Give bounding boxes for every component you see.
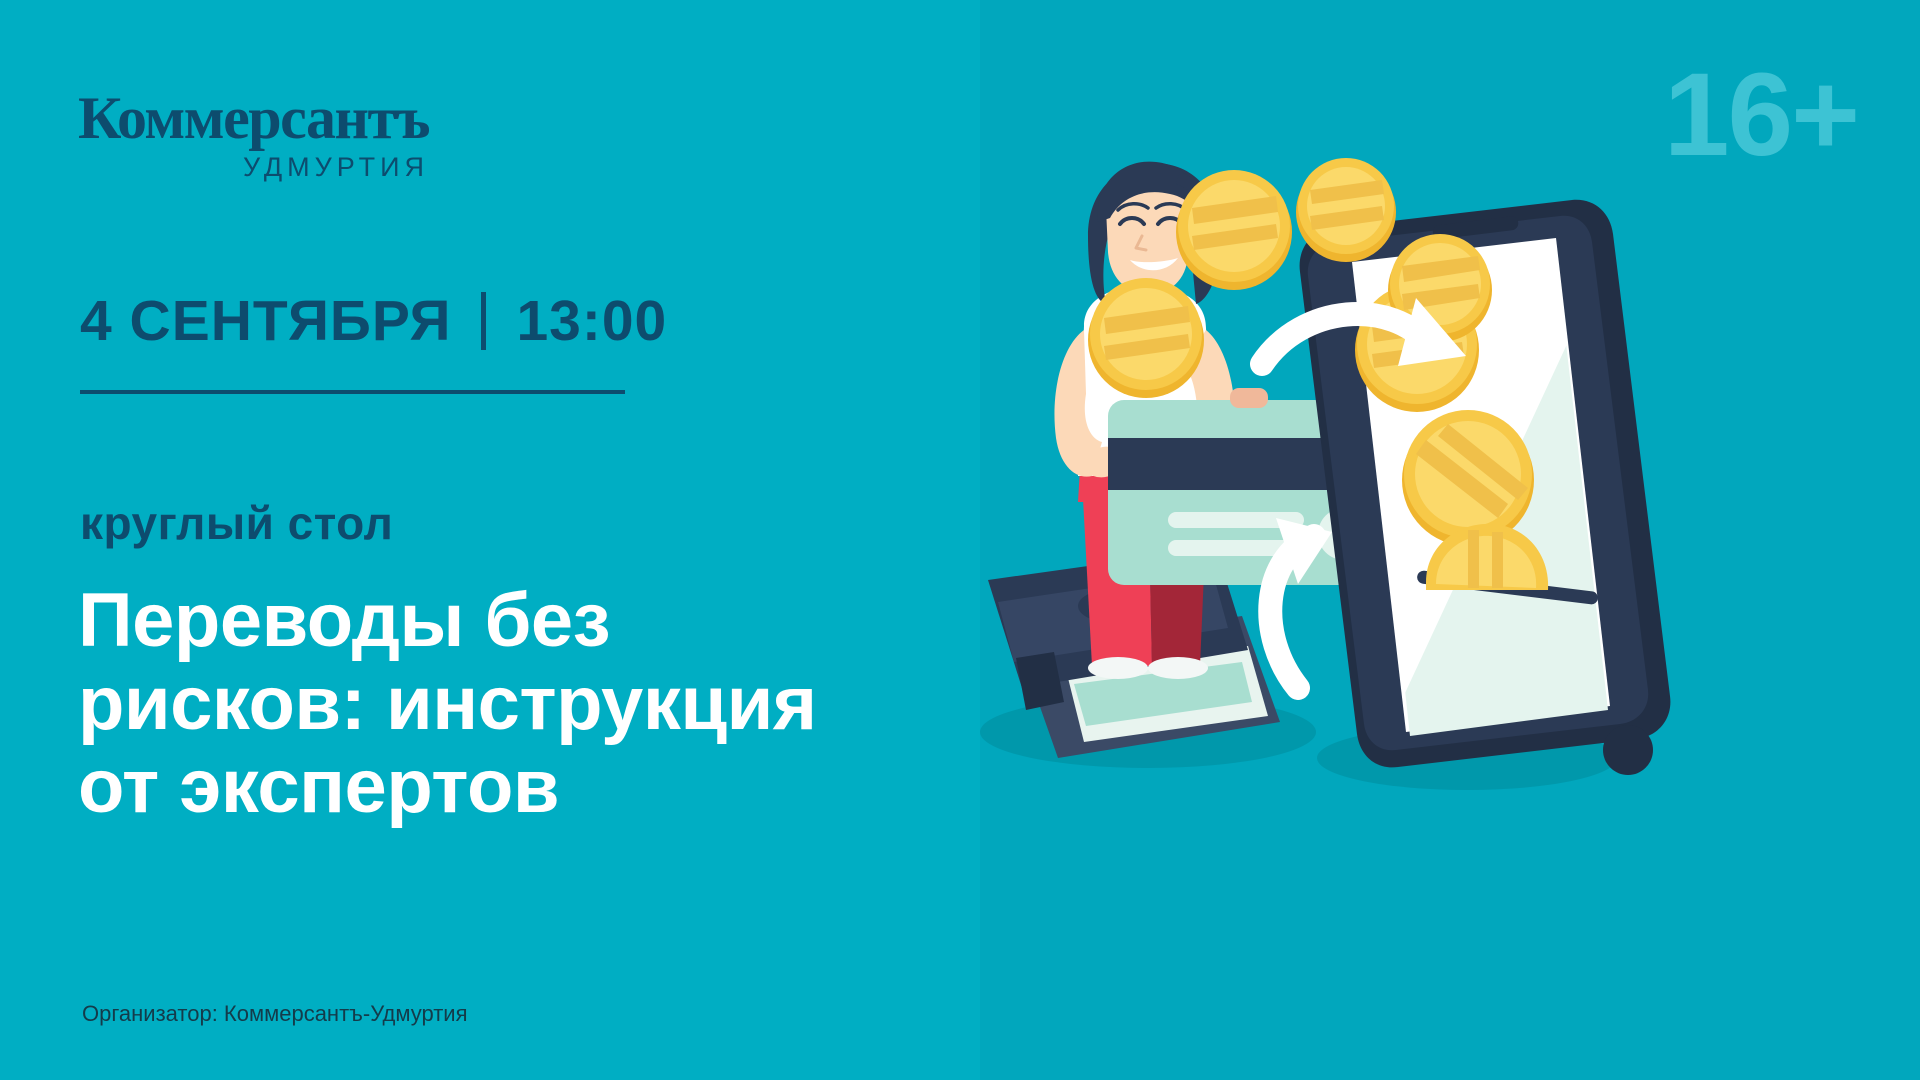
event-title-line-3: от экспертов	[78, 746, 817, 829]
brand-logo-title: Коммерсантъ	[78, 88, 429, 148]
event-title: Переводы без рисков: инструкция от экспе…	[78, 580, 817, 828]
event-kicker: круглый стол	[80, 500, 393, 546]
event-datetime: 4 СЕНТЯБРЯ 13:00	[80, 292, 667, 350]
event-date: 4 СЕНТЯБРЯ	[80, 293, 451, 350]
event-title-line-2: рисков: инструкция	[78, 663, 817, 746]
phone-home-button	[1603, 725, 1653, 775]
event-time: 13:00	[516, 293, 667, 350]
coin-screen-middle	[1402, 410, 1534, 546]
shoe-right	[1148, 657, 1208, 679]
illustration-money-transfer	[980, 150, 1920, 980]
coin-3	[1296, 158, 1396, 262]
organizer-label: Организатор: Коммерсантъ-Удмуртия	[82, 1003, 467, 1025]
coin-1	[1088, 278, 1204, 398]
brand-logo-region: УДМУРТИЯ	[78, 154, 429, 181]
divider-rule	[80, 390, 625, 394]
promo-banner: Коммерсантъ УДМУРТИЯ 16+ 4 СЕНТЯБРЯ 13:0…	[0, 0, 1920, 1080]
shoe-left	[1088, 657, 1148, 679]
datetime-separator-icon	[481, 292, 486, 350]
coin-2	[1176, 170, 1292, 290]
brand-logo: Коммерсантъ УДМУРТИЯ	[78, 88, 429, 181]
event-title-line-1: Переводы без	[78, 580, 817, 663]
